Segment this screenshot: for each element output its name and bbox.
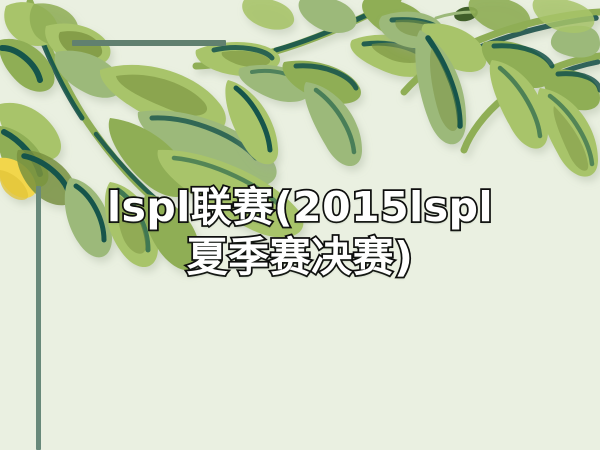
title-card: lspl联赛(2015lspl 夏季赛决赛) [0,0,600,450]
title-line-2: 夏季赛决赛) [24,232,576,282]
page-title: lspl联赛(2015lspl 夏季赛决赛) [0,182,600,282]
horizontal-rule [72,40,226,46]
title-line-1: lspl联赛(2015lspl [24,182,576,232]
